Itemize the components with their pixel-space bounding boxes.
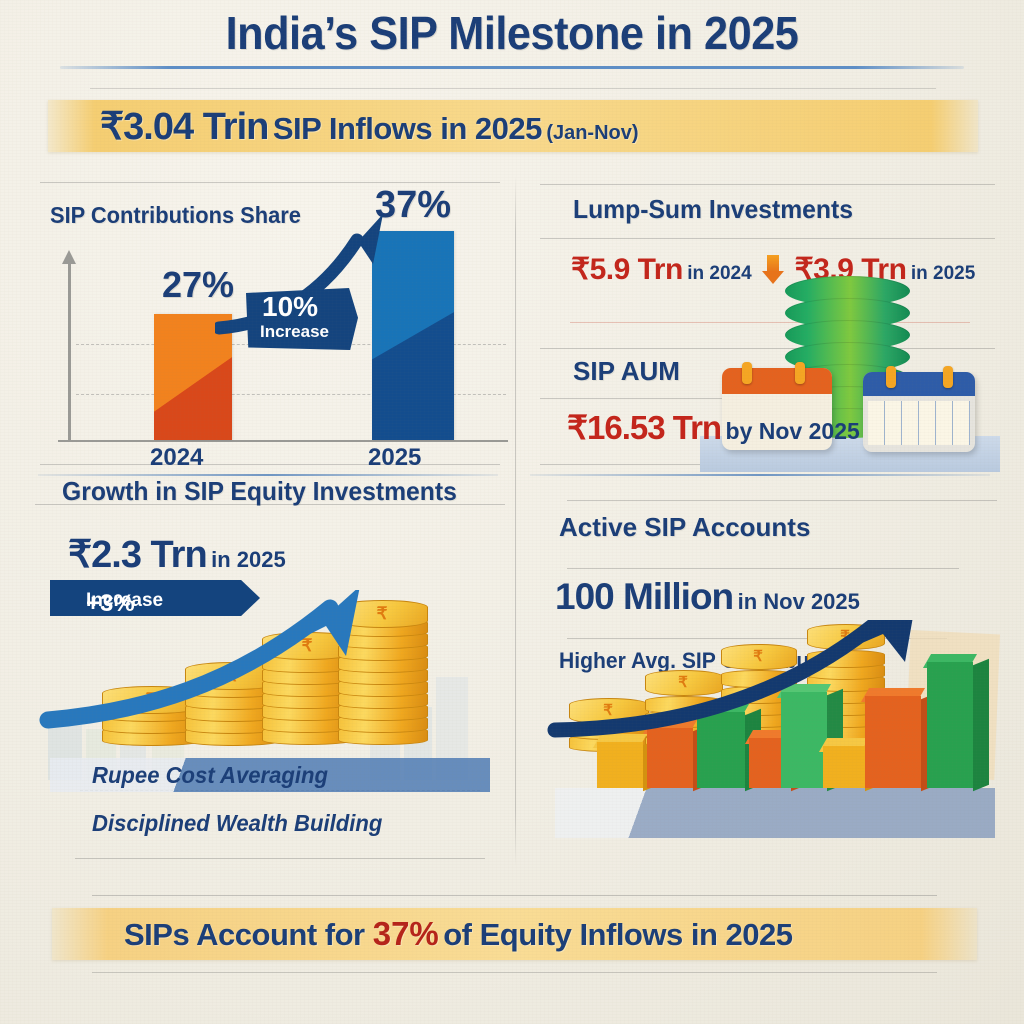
horizontal-divider-right xyxy=(530,474,990,476)
headline-banner: ₹3.04 Trin SIP Inflows in 2025 (Jan-Nov) xyxy=(48,100,978,152)
headline-banner-text: ₹3.04 Trin SIP Inflows in 2025 (Jan-Nov) xyxy=(48,104,639,149)
aum-values: ₹16.53 Trn by Nov 2025 xyxy=(567,408,860,447)
increase-badge: 10% Increase xyxy=(246,288,358,350)
footer-suffix: of Equity Inflows in 2025 xyxy=(443,917,792,952)
panel-sip-contributions-share: SIP Contributions Share 27% 37% 2024 202… xyxy=(20,176,512,472)
y-axis xyxy=(68,260,71,442)
equity-footnote-2: Disciplined Wealth Building xyxy=(92,810,382,837)
accounts-illustration: ₹ ₹ ₹ xyxy=(535,620,1005,868)
headline-period: (Jan-Nov) xyxy=(546,122,638,144)
aum-amount: ₹16.53 Trn xyxy=(567,409,721,446)
footer-prefix: SIPs Account for xyxy=(124,917,373,952)
infographic-canvas: India’s SIP Milestone in 2025 ₹3.04 Trin… xyxy=(0,0,1024,1024)
lumpsum-value-2024: ₹5.9 Trn xyxy=(571,253,683,286)
equity-badge-word: Increase xyxy=(86,590,163,612)
equity-footnote-1: Rupee Cost Averaging xyxy=(92,762,328,789)
title-underline xyxy=(60,66,964,69)
x-axis xyxy=(58,440,508,442)
aum-title: SIP AUM xyxy=(573,356,680,387)
headline-label: SIP Inflows in 2025 xyxy=(273,111,542,146)
header-secondary-rule xyxy=(90,88,936,89)
equity-illustration: ₹ ₹ ₹ xyxy=(30,590,500,790)
increase-badge-percent: 10% xyxy=(262,291,318,323)
footer-highlight: 37% xyxy=(373,915,439,952)
panel-rule xyxy=(40,182,500,183)
accounts-values: 100 Million in Nov 2025 xyxy=(555,576,860,618)
panel-rule xyxy=(40,464,500,465)
increase-badge-word: Increase xyxy=(260,322,329,342)
footer-banner: SIPs Account for 37% of Equity Inflows i… xyxy=(52,908,977,960)
horizontal-divider-left xyxy=(38,474,498,476)
lumpsum-title: Lump-Sum Investments xyxy=(573,194,853,225)
footer-banner-text: SIPs Account for 37% of Equity Inflows i… xyxy=(52,915,792,953)
panel-active-sip-accounts: Active SIP Accounts 100 Million in Nov 2… xyxy=(515,480,1024,868)
equity-values: ₹2.3 Trn in 2025 xyxy=(68,532,286,577)
panel-rule xyxy=(540,238,995,239)
accounts-period: in Nov 2025 xyxy=(738,589,860,614)
equity-amount: ₹2.3 Trn xyxy=(68,534,207,576)
header: India’s SIP Milestone in 2025 xyxy=(0,0,1024,90)
bar-label-2024: 2024 xyxy=(150,444,203,472)
accounts-amount: 100 Million xyxy=(555,576,733,617)
equity-title: Growth in SIP Equity Investments xyxy=(62,480,457,507)
footer-rule-bottom xyxy=(92,972,937,973)
equity-period: in 2025 xyxy=(211,547,286,572)
panel-rule xyxy=(567,500,997,501)
panel-sip-equity-growth: Growth in SIP Equity Investments ₹ xyxy=(20,480,512,868)
bar-label-2025: 2025 xyxy=(368,444,421,472)
page-title: India’s SIP Milestone in 2025 xyxy=(31,6,994,60)
aum-period: by Nov 2025 xyxy=(726,418,860,444)
growth-arrow-icon xyxy=(535,620,1005,868)
footer-rule-top xyxy=(92,895,937,896)
panel-rule xyxy=(567,568,959,569)
calendar-blue-icon xyxy=(863,372,975,452)
panel-rule xyxy=(75,858,485,859)
equity-increase-badge: +3% Increase xyxy=(50,580,260,616)
accounts-title: Active SIP Accounts xyxy=(559,512,810,543)
panel-rule xyxy=(540,184,995,185)
headline-amount: ₹3.04 Trin xyxy=(100,106,268,148)
growth-arrow-icon xyxy=(30,590,500,790)
panel-lumpsum-and-aum: Lump-Sum Investments ₹5.9 Trn in 2024 ₹3… xyxy=(515,176,1024,472)
